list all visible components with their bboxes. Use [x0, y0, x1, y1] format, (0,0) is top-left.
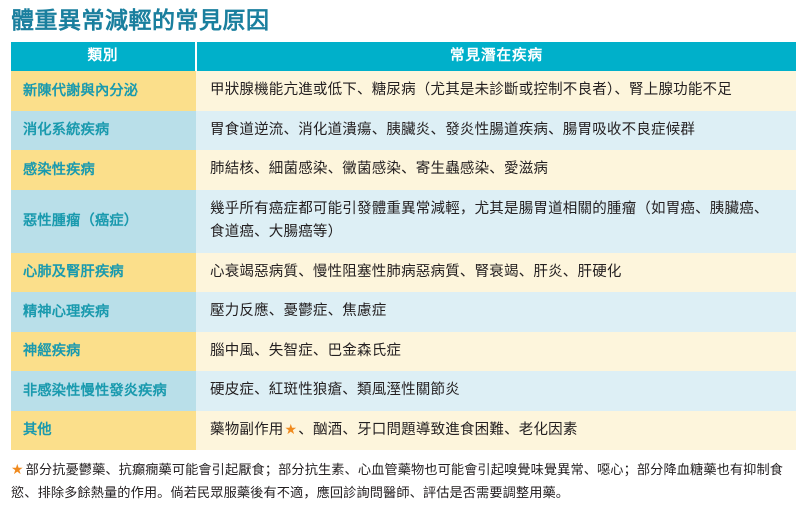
- row-detail: 甲狀腺機能亢進或低下、糖尿病（尤其是未診斷或控制不良者）、腎上腺功能不足: [196, 71, 796, 110]
- row-detail: 硬皮症、紅斑性狼瘡、類風溼性關節炎: [196, 371, 796, 410]
- page-title: 體重異常減輕的常見原因: [0, 0, 800, 42]
- column-header-category: 類別: [11, 42, 196, 71]
- table-header: 類別 常見潛在疾病: [11, 42, 796, 71]
- table-row: 惡性腫瘤（癌症） 幾乎所有癌症都可能引發體重異常減輕，尤其是腸胃道相關的腫瘤（如…: [11, 190, 796, 253]
- table-row: 心肺及腎肝疾病 心衰竭惡病質、慢性阻塞性肺病惡病質、腎衰竭、肝炎、肝硬化: [11, 253, 796, 292]
- row-detail: 心衰竭惡病質、慢性阻塞性肺病惡病質、腎衰竭、肝炎、肝硬化: [196, 253, 796, 292]
- infographic-page: 體重異常減輕的常見原因 類別 常見潛在疾病 新陳代謝與內分泌 甲狀腺機能亢進或低…: [0, 0, 800, 510]
- row-category: 消化系統疾病: [11, 111, 196, 150]
- footnote-text: 部分抗憂鬱藥、抗癲癇藥可能會引起厭食；部分抗生素、心血管藥物也可能會引起嗅覺味覺…: [11, 463, 783, 501]
- row-detail: 肺結核、細菌感染、黴菌感染、寄生蟲感染、愛滋病: [196, 150, 796, 189]
- table-row: 非感染性慢性發炎疾病 硬皮症、紅斑性狼瘡、類風溼性關節炎: [11, 371, 796, 410]
- row-category: 精神心理疾病: [11, 292, 196, 331]
- table-body: 新陳代謝與內分泌 甲狀腺機能亢進或低下、糖尿病（尤其是未診斷或控制不良者）、腎上…: [11, 71, 796, 450]
- table-row: 精神心理疾病 壓力反應、憂鬱症、焦慮症: [11, 292, 796, 331]
- row-detail: 壓力反應、憂鬱症、焦慮症: [196, 292, 796, 331]
- row-detail-text-after-marker: 、酗酒、牙口問題導致進食困難、老化因素: [298, 422, 577, 438]
- row-category: 其他: [11, 411, 196, 450]
- row-category: 惡性腫瘤（癌症）: [11, 190, 196, 253]
- row-category: 新陳代謝與內分泌: [11, 71, 196, 110]
- row-detail: 胃食道逆流、消化道潰瘍、胰臟炎、發炎性腸道疾病、腸胃吸收不良症候群: [196, 111, 796, 150]
- row-category: 神經疾病: [11, 332, 196, 371]
- row-detail: 腦中風、失智症、巴金森氏症: [196, 332, 796, 371]
- table-row: 新陳代謝與內分泌 甲狀腺機能亢進或低下、糖尿病（尤其是未診斷或控制不良者）、腎上…: [11, 71, 796, 110]
- row-category: 心肺及腎肝疾病: [11, 253, 196, 292]
- footnote-star-icon: ★: [11, 462, 26, 478]
- table-header-row: 類別 常見潛在疾病: [11, 42, 796, 71]
- table-row: 其他 藥物副作用★、酗酒、牙口問題導致進食困難、老化因素: [11, 411, 796, 450]
- row-category: 感染性疾病: [11, 150, 196, 189]
- table-row: 消化系統疾病 胃食道逆流、消化道潰瘍、胰臟炎、發炎性腸道疾病、腸胃吸收不良症候群: [11, 111, 796, 150]
- row-category: 非感染性慢性發炎疾病: [11, 371, 196, 410]
- column-header-detail: 常見潛在疾病: [196, 42, 796, 71]
- table-row: 感染性疾病 肺結核、細菌感染、黴菌感染、寄生蟲感染、愛滋病: [11, 150, 796, 189]
- causes-table: 類別 常見潛在疾病 新陳代謝與內分泌 甲狀腺機能亢進或低下、糖尿病（尤其是未診斷…: [11, 42, 796, 450]
- row-detail-text-before-marker: 藥物副作用: [210, 422, 284, 438]
- table-row: 神經疾病 腦中風、失智症、巴金森氏症: [11, 332, 796, 371]
- footnote: ★部分抗憂鬱藥、抗癲癇藥可能會引起厭食；部分抗生素、心血管藥物也可能會引起嗅覺味…: [11, 459, 796, 505]
- footnote-marker-star-icon: ★: [284, 422, 299, 438]
- row-detail-with-footnote-marker: 藥物副作用★、酗酒、牙口問題導致進食困難、老化因素: [196, 411, 796, 450]
- row-detail: 幾乎所有癌症都可能引發體重異常減輕，尤其是腸胃道相關的腫瘤（如胃癌、胰臟癌、食道…: [196, 190, 796, 253]
